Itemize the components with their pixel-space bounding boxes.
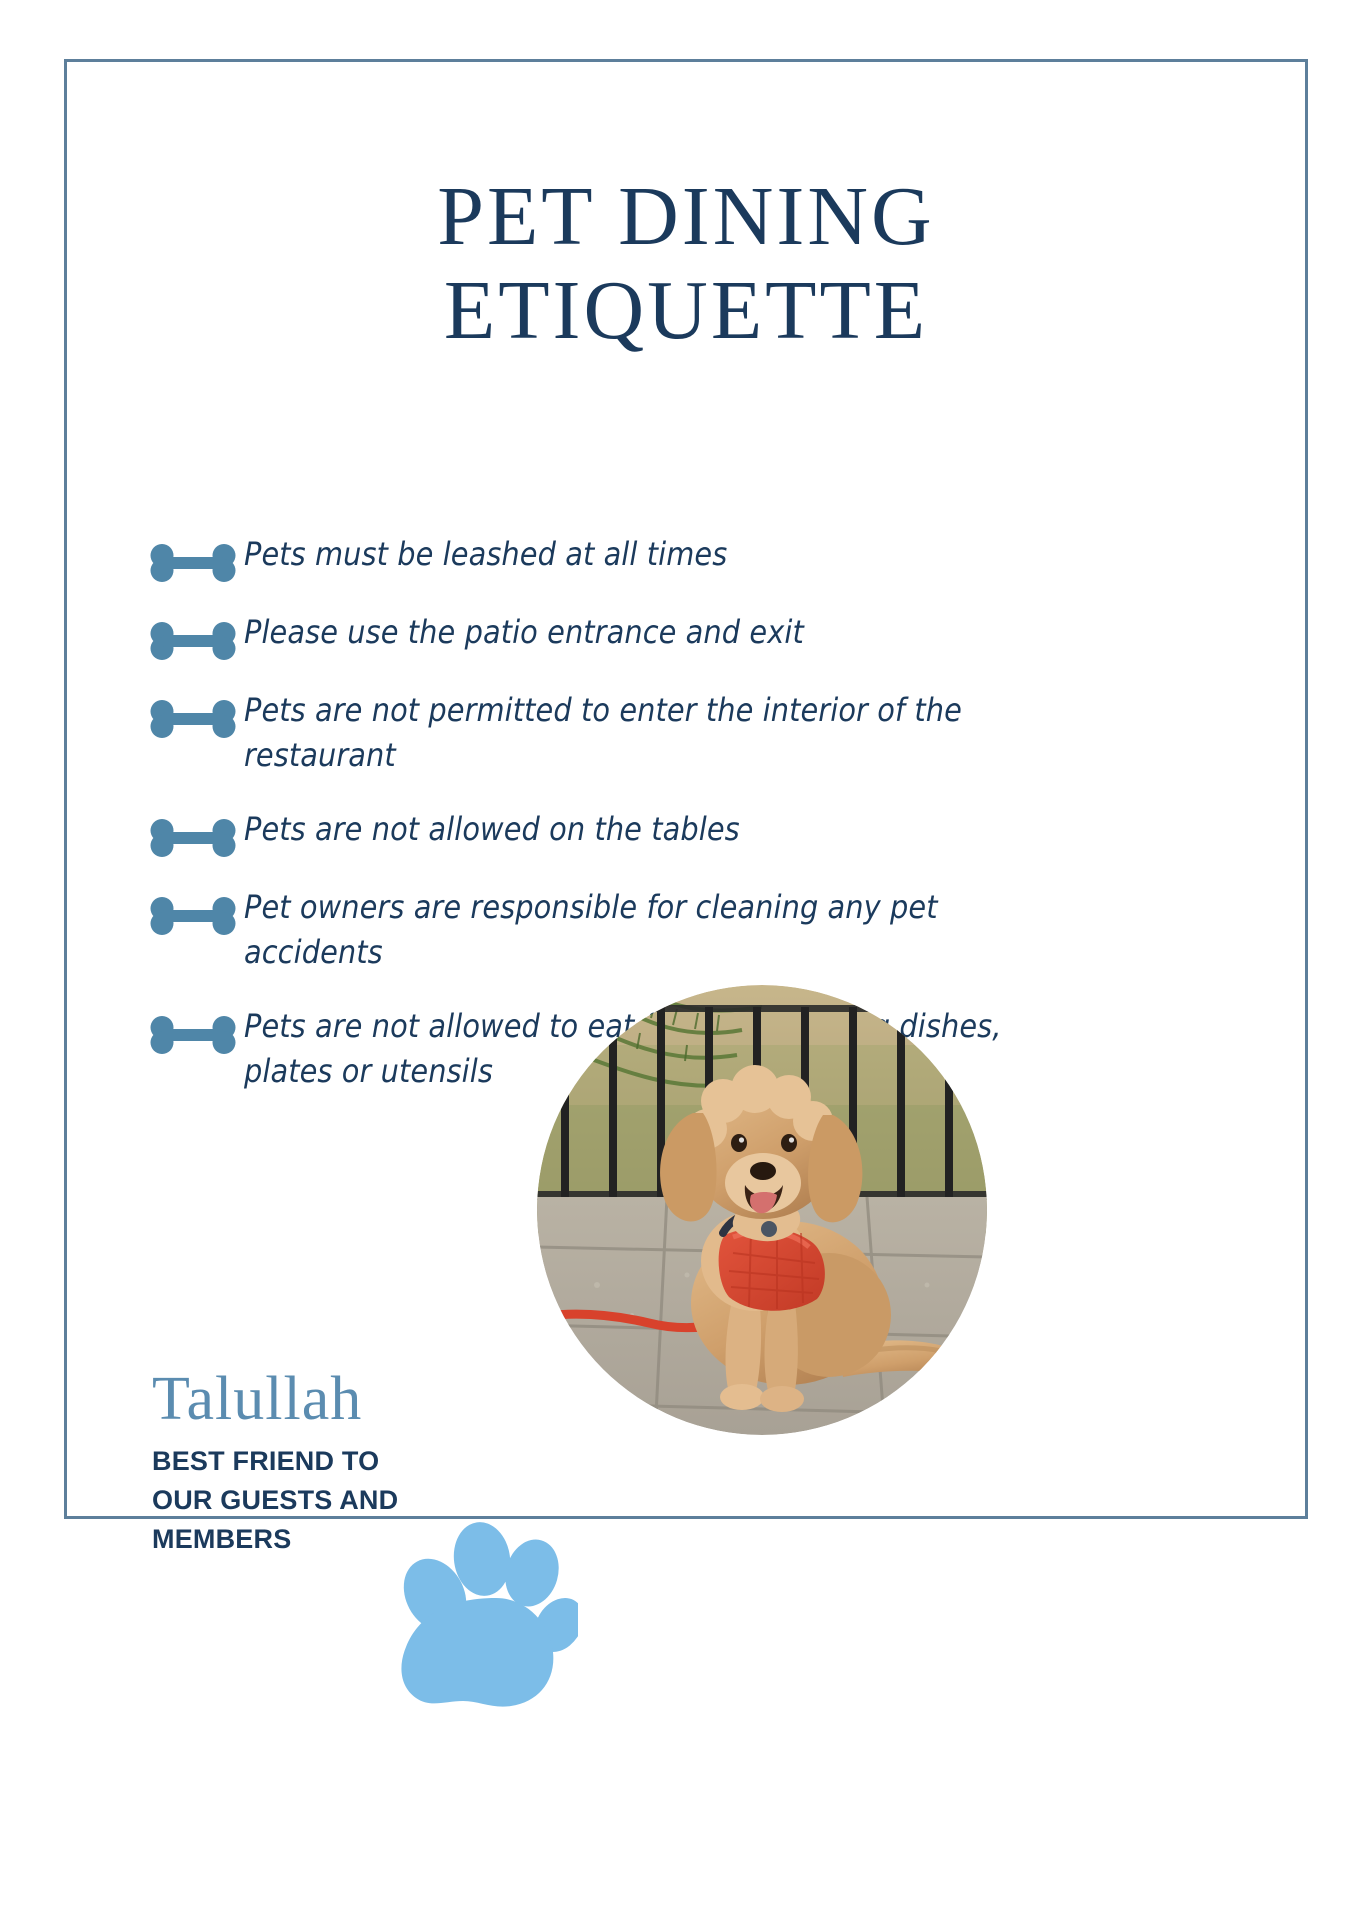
list-item-label: Pets are not allowed on the tables	[244, 807, 740, 852]
list-item: Pets are not allowed on the tables	[148, 807, 1148, 857]
page-title: PET DINING ETIQUETTE	[64, 170, 1308, 358]
title-line-2: ETIQUETTE	[64, 264, 1308, 358]
title-line-1: PET DINING	[64, 170, 1308, 264]
caption-line-1: BEST FRIEND TO	[152, 1442, 482, 1481]
list-item: Pet owners are responsible for cleaning …	[148, 885, 1148, 976]
list-item-label: Pets are not permitted to enter the inte…	[244, 688, 1004, 779]
list-item: Please use the patio entrance and exit	[148, 610, 1148, 660]
dog-photo	[537, 985, 987, 1435]
list-item-label: Pets must be leashed at all times	[244, 532, 727, 577]
paw-print-icon	[378, 1512, 578, 1712]
poster-canvas: PET DINING ETIQUETTE Pets must be leashe…	[0, 0, 1372, 1920]
bone-icon	[148, 807, 244, 857]
bone-icon	[148, 885, 244, 935]
list-item: Pets are not permitted to enter the inte…	[148, 688, 1148, 779]
bone-icon	[148, 610, 244, 660]
bone-icon	[148, 532, 244, 582]
list-item-label: Pet owners are responsible for cleaning …	[244, 885, 1004, 976]
bone-icon	[148, 688, 244, 738]
list-item: Pets must be leashed at all times	[148, 532, 1148, 582]
bone-icon	[148, 1004, 244, 1054]
list-item-label: Please use the patio entrance and exit	[244, 610, 804, 655]
pet-name: Talullah	[152, 1368, 482, 1430]
